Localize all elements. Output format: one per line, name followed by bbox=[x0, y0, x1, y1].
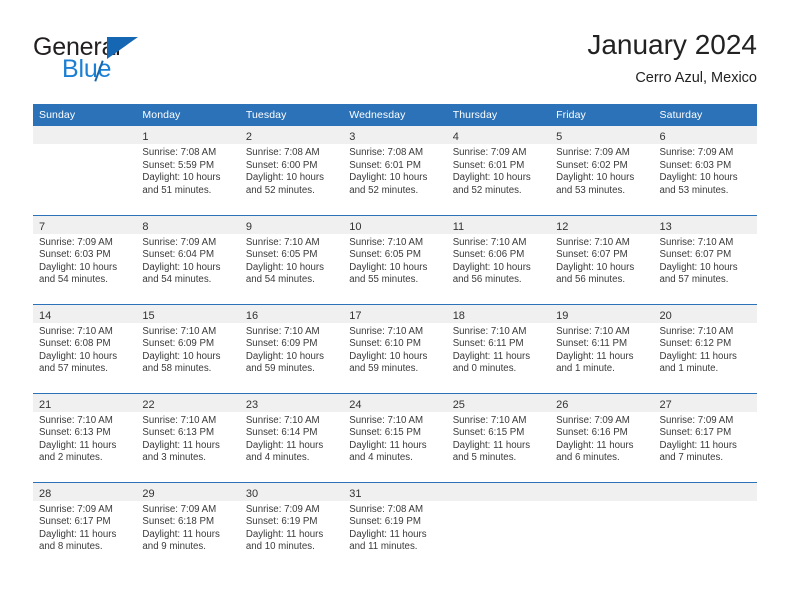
day-cell-details: Sunrise: 7:09 AMSunset: 6:02 PMDaylight:… bbox=[550, 144, 653, 197]
day-cell-details bbox=[33, 144, 136, 147]
daylight-text: Daylight: 11 hours bbox=[453, 440, 543, 453]
daylight-text-cont: and 57 minutes. bbox=[660, 274, 750, 287]
daylight-text-cont: and 54 minutes. bbox=[246, 274, 336, 287]
sunrise-text: Sunrise: 7:09 AM bbox=[660, 147, 750, 160]
sunrise-text: Sunrise: 7:09 AM bbox=[39, 504, 129, 517]
sunset-text: Sunset: 6:01 PM bbox=[349, 160, 439, 173]
daylight-text: Daylight: 10 hours bbox=[453, 262, 543, 275]
day-cell[interactable]: 13Sunrise: 7:10 AMSunset: 6:07 PMDayligh… bbox=[654, 215, 757, 304]
sunset-text: Sunset: 6:19 PM bbox=[349, 516, 439, 529]
daylight-text-cont: and 59 minutes. bbox=[349, 363, 439, 376]
sunrise-text: Sunrise: 7:09 AM bbox=[556, 415, 646, 428]
day-cell[interactable]: 6Sunrise: 7:09 AMSunset: 6:03 PMDaylight… bbox=[654, 126, 757, 215]
day-cell-details: Sunrise: 7:09 AMSunset: 6:01 PMDaylight:… bbox=[447, 144, 550, 197]
daylight-text-cont: and 3 minutes. bbox=[142, 452, 232, 465]
weekday-header-wednesday: Wednesday bbox=[343, 104, 446, 126]
weekday-header-friday: Friday bbox=[550, 104, 653, 126]
day-cell[interactable]: 30Sunrise: 7:09 AMSunset: 6:19 PMDayligh… bbox=[240, 482, 343, 571]
day-number-band: 2 bbox=[240, 126, 343, 144]
sunrise-text: Sunrise: 7:10 AM bbox=[39, 415, 129, 428]
sunset-text: Sunset: 6:11 PM bbox=[453, 338, 543, 351]
daylight-text-cont: and 9 minutes. bbox=[142, 541, 232, 554]
day-number: 16 bbox=[246, 310, 258, 322]
calendar-week-row: 7Sunrise: 7:09 AMSunset: 6:03 PMDaylight… bbox=[33, 215, 757, 304]
day-cell-empty bbox=[447, 482, 550, 571]
sunset-text: Sunset: 6:09 PM bbox=[142, 338, 232, 351]
daylight-text: Daylight: 10 hours bbox=[246, 351, 336, 364]
daylight-text: Daylight: 10 hours bbox=[39, 351, 129, 364]
day-number-band: 29 bbox=[136, 483, 239, 501]
weekday-header-sunday: Sunday bbox=[33, 104, 136, 126]
day-cell-details: Sunrise: 7:10 AMSunset: 6:05 PMDaylight:… bbox=[240, 234, 343, 287]
sunset-text: Sunset: 6:12 PM bbox=[660, 338, 750, 351]
day-number: 13 bbox=[660, 221, 672, 233]
day-cell-details: Sunrise: 7:08 AMSunset: 6:19 PMDaylight:… bbox=[343, 501, 446, 554]
day-cell-details: Sunrise: 7:10 AMSunset: 6:07 PMDaylight:… bbox=[550, 234, 653, 287]
day-cell-details: Sunrise: 7:10 AMSunset: 6:08 PMDaylight:… bbox=[33, 323, 136, 376]
day-cell-details: Sunrise: 7:10 AMSunset: 6:11 PMDaylight:… bbox=[447, 323, 550, 376]
day-cell[interactable]: 14Sunrise: 7:10 AMSunset: 6:08 PMDayligh… bbox=[33, 304, 136, 393]
daylight-text: Daylight: 11 hours bbox=[246, 440, 336, 453]
day-number: 7 bbox=[39, 221, 45, 233]
sunset-text: Sunset: 6:09 PM bbox=[246, 338, 336, 351]
day-number: 28 bbox=[39, 488, 51, 500]
day-cell-details: Sunrise: 7:10 AMSunset: 6:15 PMDaylight:… bbox=[447, 412, 550, 465]
day-number-band: 7 bbox=[33, 216, 136, 234]
day-number: 14 bbox=[39, 310, 51, 322]
calendar-body: 1Sunrise: 7:08 AMSunset: 5:59 PMDaylight… bbox=[33, 126, 757, 571]
day-cell-details: Sunrise: 7:10 AMSunset: 6:07 PMDaylight:… bbox=[654, 234, 757, 287]
sunset-text: Sunset: 6:10 PM bbox=[349, 338, 439, 351]
sunrise-text: Sunrise: 7:10 AM bbox=[556, 237, 646, 250]
sunset-text: Sunset: 6:04 PM bbox=[142, 249, 232, 262]
sunrise-text: Sunrise: 7:10 AM bbox=[660, 237, 750, 250]
sunrise-text: Sunrise: 7:10 AM bbox=[246, 415, 336, 428]
day-cell[interactable]: 24Sunrise: 7:10 AMSunset: 6:15 PMDayligh… bbox=[343, 393, 446, 482]
day-number: 25 bbox=[453, 399, 465, 411]
sunrise-text: Sunrise: 7:10 AM bbox=[349, 326, 439, 339]
daylight-text: Daylight: 10 hours bbox=[349, 172, 439, 185]
sunrise-text: Sunrise: 7:10 AM bbox=[39, 326, 129, 339]
day-number-band: 27 bbox=[654, 394, 757, 412]
day-number: 30 bbox=[246, 488, 258, 500]
day-number: 29 bbox=[142, 488, 154, 500]
day-number-band: 6 bbox=[654, 126, 757, 144]
sunset-text: Sunset: 6:18 PM bbox=[142, 516, 232, 529]
day-cell-empty bbox=[550, 482, 653, 571]
sunset-text: Sunset: 6:13 PM bbox=[39, 427, 129, 440]
day-number-band bbox=[654, 483, 757, 501]
day-cell[interactable]: 16Sunrise: 7:10 AMSunset: 6:09 PMDayligh… bbox=[240, 304, 343, 393]
day-number-band: 1 bbox=[136, 126, 239, 144]
daylight-text: Daylight: 11 hours bbox=[660, 440, 750, 453]
day-cell-details bbox=[654, 501, 757, 504]
daylight-text-cont: and 2 minutes. bbox=[39, 452, 129, 465]
weekday-header-thursday: Thursday bbox=[447, 104, 550, 126]
day-cell-details: Sunrise: 7:10 AMSunset: 6:15 PMDaylight:… bbox=[343, 412, 446, 465]
day-number-band: 26 bbox=[550, 394, 653, 412]
day-number-band: 9 bbox=[240, 216, 343, 234]
day-number-band: 23 bbox=[240, 394, 343, 412]
day-number-band bbox=[447, 483, 550, 501]
sunrise-text: Sunrise: 7:09 AM bbox=[142, 504, 232, 517]
sunset-text: Sunset: 6:15 PM bbox=[349, 427, 439, 440]
sunrise-text: Sunrise: 7:08 AM bbox=[349, 504, 439, 517]
day-number-band: 30 bbox=[240, 483, 343, 501]
sunset-text: Sunset: 6:06 PM bbox=[453, 249, 543, 262]
sunset-text: Sunset: 6:07 PM bbox=[556, 249, 646, 262]
daylight-text-cont: and 4 minutes. bbox=[349, 452, 439, 465]
sunrise-text: Sunrise: 7:10 AM bbox=[453, 237, 543, 250]
day-number: 8 bbox=[142, 221, 148, 233]
day-number: 15 bbox=[142, 310, 154, 322]
weekday-header-tuesday: Tuesday bbox=[240, 104, 343, 126]
daylight-text: Daylight: 10 hours bbox=[246, 172, 336, 185]
day-number-band: 22 bbox=[136, 394, 239, 412]
daylight-text: Daylight: 11 hours bbox=[556, 351, 646, 364]
daylight-text-cont: and 56 minutes. bbox=[453, 274, 543, 287]
sunrise-text: Sunrise: 7:10 AM bbox=[349, 415, 439, 428]
sunset-text: Sunset: 6:17 PM bbox=[660, 427, 750, 440]
day-number-band: 18 bbox=[447, 305, 550, 323]
day-number: 19 bbox=[556, 310, 568, 322]
day-number-band: 20 bbox=[654, 305, 757, 323]
day-cell-details: Sunrise: 7:09 AMSunset: 6:03 PMDaylight:… bbox=[654, 144, 757, 197]
day-cell[interactable]: 23Sunrise: 7:10 AMSunset: 6:14 PMDayligh… bbox=[240, 393, 343, 482]
day-number-band: 24 bbox=[343, 394, 446, 412]
sunrise-text: Sunrise: 7:08 AM bbox=[246, 147, 336, 160]
sunset-text: Sunset: 6:16 PM bbox=[556, 427, 646, 440]
day-cell[interactable]: 3Sunrise: 7:08 AMSunset: 6:01 PMDaylight… bbox=[343, 126, 446, 215]
sunrise-text: Sunrise: 7:09 AM bbox=[39, 237, 129, 250]
daylight-text-cont: and 7 minutes. bbox=[660, 452, 750, 465]
sunrise-text: Sunrise: 7:10 AM bbox=[349, 237, 439, 250]
day-number: 21 bbox=[39, 399, 51, 411]
daylight-text-cont: and 6 minutes. bbox=[556, 452, 646, 465]
daylight-text: Daylight: 11 hours bbox=[39, 440, 129, 453]
day-cell-details: Sunrise: 7:09 AMSunset: 6:03 PMDaylight:… bbox=[33, 234, 136, 287]
day-cell-details: Sunrise: 7:10 AMSunset: 6:09 PMDaylight:… bbox=[136, 323, 239, 376]
sunset-text: Sunset: 6:13 PM bbox=[142, 427, 232, 440]
day-cell[interactable]: 10Sunrise: 7:10 AMSunset: 6:05 PMDayligh… bbox=[343, 215, 446, 304]
day-cell-details bbox=[447, 501, 550, 504]
daylight-text: Daylight: 11 hours bbox=[660, 351, 750, 364]
daylight-text: Daylight: 11 hours bbox=[556, 440, 646, 453]
daylight-text-cont: and 11 minutes. bbox=[349, 541, 439, 554]
daylight-text: Daylight: 10 hours bbox=[349, 351, 439, 364]
calendar-week-row: 14Sunrise: 7:10 AMSunset: 6:08 PMDayligh… bbox=[33, 304, 757, 393]
sunset-text: Sunset: 6:11 PM bbox=[556, 338, 646, 351]
sunrise-text: Sunrise: 7:08 AM bbox=[349, 147, 439, 160]
day-cell-details: Sunrise: 7:09 AMSunset: 6:18 PMDaylight:… bbox=[136, 501, 239, 554]
daylight-text: Daylight: 10 hours bbox=[660, 172, 750, 185]
day-cell-details: Sunrise: 7:09 AMSunset: 6:17 PMDaylight:… bbox=[654, 412, 757, 465]
day-cell[interactable]: 28Sunrise: 7:09 AMSunset: 6:17 PMDayligh… bbox=[33, 482, 136, 571]
day-number-band: 13 bbox=[654, 216, 757, 234]
day-cell-details: Sunrise: 7:09 AMSunset: 6:19 PMDaylight:… bbox=[240, 501, 343, 554]
daylight-text: Daylight: 10 hours bbox=[142, 172, 232, 185]
logo-triangle-icon bbox=[107, 37, 138, 59]
daylight-text-cont: and 51 minutes. bbox=[142, 185, 232, 198]
day-number: 3 bbox=[349, 131, 355, 143]
sunset-text: Sunset: 6:15 PM bbox=[453, 427, 543, 440]
daylight-text-cont: and 52 minutes. bbox=[453, 185, 543, 198]
day-number: 10 bbox=[349, 221, 361, 233]
page-header: General Blue January 2024 Cerro Azul, Me… bbox=[33, 28, 757, 94]
day-number-band: 15 bbox=[136, 305, 239, 323]
day-cell-empty bbox=[33, 126, 136, 215]
day-number-band: 3 bbox=[343, 126, 446, 144]
daylight-text-cont: and 1 minute. bbox=[556, 363, 646, 376]
sunrise-text: Sunrise: 7:09 AM bbox=[453, 147, 543, 160]
sunrise-text: Sunrise: 7:10 AM bbox=[453, 415, 543, 428]
day-number-band: 5 bbox=[550, 126, 653, 144]
daylight-text-cont: and 0 minutes. bbox=[453, 363, 543, 376]
day-cell-details: Sunrise: 7:10 AMSunset: 6:10 PMDaylight:… bbox=[343, 323, 446, 376]
day-cell[interactable]: 22Sunrise: 7:10 AMSunset: 6:13 PMDayligh… bbox=[136, 393, 239, 482]
sunrise-text: Sunrise: 7:09 AM bbox=[556, 147, 646, 160]
page-title: January 2024 bbox=[587, 28, 757, 62]
sunrise-text: Sunrise: 7:10 AM bbox=[556, 326, 646, 339]
day-cell[interactable]: 1Sunrise: 7:08 AMSunset: 5:59 PMDaylight… bbox=[136, 126, 239, 215]
day-number-band: 4 bbox=[447, 126, 550, 144]
daylight-text: Daylight: 10 hours bbox=[556, 262, 646, 275]
sunset-text: Sunset: 6:07 PM bbox=[660, 249, 750, 262]
day-cell[interactable]: 7Sunrise: 7:09 AMSunset: 6:03 PMDaylight… bbox=[33, 215, 136, 304]
sunset-text: Sunset: 6:17 PM bbox=[39, 516, 129, 529]
day-cell-details: Sunrise: 7:10 AMSunset: 6:05 PMDaylight:… bbox=[343, 234, 446, 287]
day-number-band: 17 bbox=[343, 305, 446, 323]
day-number-band: 10 bbox=[343, 216, 446, 234]
day-cell[interactable]: 27Sunrise: 7:09 AMSunset: 6:17 PMDayligh… bbox=[654, 393, 757, 482]
daylight-text-cont: and 52 minutes. bbox=[349, 185, 439, 198]
logo-wordmark-top: General bbox=[33, 34, 121, 60]
day-number: 20 bbox=[660, 310, 672, 322]
calendar-week-row: 28Sunrise: 7:09 AMSunset: 6:17 PMDayligh… bbox=[33, 482, 757, 571]
day-number: 17 bbox=[349, 310, 361, 322]
weekday-header-saturday: Saturday bbox=[654, 104, 757, 126]
sunrise-text: Sunrise: 7:10 AM bbox=[246, 326, 336, 339]
daylight-text-cont: and 56 minutes. bbox=[556, 274, 646, 287]
sunrise-text: Sunrise: 7:10 AM bbox=[660, 326, 750, 339]
day-cell[interactable]: 11Sunrise: 7:10 AMSunset: 6:06 PMDayligh… bbox=[447, 215, 550, 304]
sunset-text: Sunset: 6:19 PM bbox=[246, 516, 336, 529]
day-cell-details: Sunrise: 7:08 AMSunset: 5:59 PMDaylight:… bbox=[136, 144, 239, 197]
daylight-text: Daylight: 10 hours bbox=[142, 351, 232, 364]
daylight-text-cont: and 59 minutes. bbox=[246, 363, 336, 376]
daylight-text-cont: and 55 minutes. bbox=[349, 274, 439, 287]
sunrise-text: Sunrise: 7:09 AM bbox=[142, 237, 232, 250]
day-cell[interactable]: 18Sunrise: 7:10 AMSunset: 6:11 PMDayligh… bbox=[447, 304, 550, 393]
weekday-header-monday: Monday bbox=[136, 104, 239, 126]
daylight-text-cont: and 4 minutes. bbox=[246, 452, 336, 465]
sunset-text: Sunset: 6:03 PM bbox=[39, 249, 129, 262]
day-cell[interactable]: 21Sunrise: 7:10 AMSunset: 6:13 PMDayligh… bbox=[33, 393, 136, 482]
daylight-text-cont: and 53 minutes. bbox=[660, 185, 750, 198]
day-cell-details: Sunrise: 7:10 AMSunset: 6:12 PMDaylight:… bbox=[654, 323, 757, 376]
day-number-band: 31 bbox=[343, 483, 446, 501]
daylight-text: Daylight: 11 hours bbox=[39, 529, 129, 542]
day-cell[interactable]: 5Sunrise: 7:09 AMSunset: 6:02 PMDaylight… bbox=[550, 126, 653, 215]
day-number: 6 bbox=[660, 131, 666, 143]
day-number-band: 11 bbox=[447, 216, 550, 234]
day-number: 31 bbox=[349, 488, 361, 500]
sunset-text: Sunset: 6:14 PM bbox=[246, 427, 336, 440]
daylight-text: Daylight: 10 hours bbox=[349, 262, 439, 275]
calendar-page: General Blue January 2024 Cerro Azul, Me… bbox=[0, 0, 792, 612]
daylight-text: Daylight: 11 hours bbox=[246, 529, 336, 542]
day-cell[interactable]: 8Sunrise: 7:09 AMSunset: 6:04 PMDaylight… bbox=[136, 215, 239, 304]
day-number: 11 bbox=[453, 221, 464, 233]
day-cell-details: Sunrise: 7:08 AMSunset: 6:01 PMDaylight:… bbox=[343, 144, 446, 197]
day-number: 22 bbox=[142, 399, 154, 411]
sunrise-text: Sunrise: 7:08 AM bbox=[142, 147, 232, 160]
day-number-band: 12 bbox=[550, 216, 653, 234]
day-number: 27 bbox=[660, 399, 672, 411]
sunset-text: Sunset: 6:08 PM bbox=[39, 338, 129, 351]
day-number: 1 bbox=[142, 131, 148, 143]
daylight-text-cont: and 5 minutes. bbox=[453, 452, 543, 465]
sunset-text: Sunset: 6:03 PM bbox=[660, 160, 750, 173]
day-cell-details: Sunrise: 7:10 AMSunset: 6:06 PMDaylight:… bbox=[447, 234, 550, 287]
daylight-text: Daylight: 11 hours bbox=[349, 529, 439, 542]
daylight-text: Daylight: 11 hours bbox=[142, 529, 232, 542]
calendar-week-row: 1Sunrise: 7:08 AMSunset: 5:59 PMDaylight… bbox=[33, 126, 757, 215]
day-number-band: 8 bbox=[136, 216, 239, 234]
daylight-text: Daylight: 11 hours bbox=[453, 351, 543, 364]
sunset-text: Sunset: 6:01 PM bbox=[453, 160, 543, 173]
sunset-text: Sunset: 5:59 PM bbox=[142, 160, 232, 173]
day-cell[interactable]: 25Sunrise: 7:10 AMSunset: 6:15 PMDayligh… bbox=[447, 393, 550, 482]
sunrise-text: Sunrise: 7:09 AM bbox=[246, 504, 336, 517]
day-number: 12 bbox=[556, 221, 568, 233]
daylight-text-cont: and 58 minutes. bbox=[142, 363, 232, 376]
day-cell-empty bbox=[654, 482, 757, 571]
sunset-text: Sunset: 6:00 PM bbox=[246, 160, 336, 173]
daylight-text: Daylight: 10 hours bbox=[556, 172, 646, 185]
daylight-text-cont: and 54 minutes. bbox=[142, 274, 232, 287]
daylight-text-cont: and 57 minutes. bbox=[39, 363, 129, 376]
day-number: 4 bbox=[453, 131, 459, 143]
daylight-text: Daylight: 10 hours bbox=[246, 262, 336, 275]
general-blue-logo[interactable]: General Blue bbox=[33, 34, 213, 90]
day-cell[interactable]: 20Sunrise: 7:10 AMSunset: 6:12 PMDayligh… bbox=[654, 304, 757, 393]
day-cell[interactable]: 2Sunrise: 7:08 AMSunset: 6:00 PMDaylight… bbox=[240, 126, 343, 215]
daylight-text: Daylight: 10 hours bbox=[142, 262, 232, 275]
day-number: 26 bbox=[556, 399, 568, 411]
day-number: 18 bbox=[453, 310, 465, 322]
day-number-band bbox=[550, 483, 653, 501]
day-number: 2 bbox=[246, 131, 252, 143]
sunset-text: Sunset: 6:02 PM bbox=[556, 160, 646, 173]
day-cell[interactable]: 31Sunrise: 7:08 AMSunset: 6:19 PMDayligh… bbox=[343, 482, 446, 571]
page-subtitle-location: Cerro Azul, Mexico bbox=[587, 68, 757, 88]
day-cell-details: Sunrise: 7:10 AMSunset: 6:13 PMDaylight:… bbox=[33, 412, 136, 465]
day-number-band: 28 bbox=[33, 483, 136, 501]
daylight-text-cont: and 1 minute. bbox=[660, 363, 750, 376]
day-number: 5 bbox=[556, 131, 562, 143]
day-number-band: 14 bbox=[33, 305, 136, 323]
day-cell-details: Sunrise: 7:10 AMSunset: 6:09 PMDaylight:… bbox=[240, 323, 343, 376]
daylight-text: Daylight: 10 hours bbox=[453, 172, 543, 185]
title-block: January 2024 Cerro Azul, Mexico bbox=[587, 28, 757, 88]
sunset-text: Sunset: 6:05 PM bbox=[349, 249, 439, 262]
day-number: 23 bbox=[246, 399, 258, 411]
day-cell[interactable]: 26Sunrise: 7:09 AMSunset: 6:16 PMDayligh… bbox=[550, 393, 653, 482]
day-cell[interactable]: 12Sunrise: 7:10 AMSunset: 6:07 PMDayligh… bbox=[550, 215, 653, 304]
calendar-week-row: 21Sunrise: 7:10 AMSunset: 6:13 PMDayligh… bbox=[33, 393, 757, 482]
daylight-text: Daylight: 10 hours bbox=[660, 262, 750, 275]
day-number: 9 bbox=[246, 221, 252, 233]
day-number-band: 19 bbox=[550, 305, 653, 323]
day-cell-details: Sunrise: 7:08 AMSunset: 6:00 PMDaylight:… bbox=[240, 144, 343, 197]
daylight-text: Daylight: 11 hours bbox=[142, 440, 232, 453]
calendar-header-row: SundayMondayTuesdayWednesdayThursdayFrid… bbox=[33, 104, 757, 126]
daylight-text-cont: and 54 minutes. bbox=[39, 274, 129, 287]
day-cell-details: Sunrise: 7:10 AMSunset: 6:14 PMDaylight:… bbox=[240, 412, 343, 465]
day-cell[interactable]: 17Sunrise: 7:10 AMSunset: 6:10 PMDayligh… bbox=[343, 304, 446, 393]
sunrise-text: Sunrise: 7:10 AM bbox=[453, 326, 543, 339]
day-cell-details: Sunrise: 7:10 AMSunset: 6:11 PMDaylight:… bbox=[550, 323, 653, 376]
day-number-band: 25 bbox=[447, 394, 550, 412]
day-number-band: 21 bbox=[33, 394, 136, 412]
daylight-text-cont: and 52 minutes. bbox=[246, 185, 336, 198]
day-cell-details: Sunrise: 7:09 AMSunset: 6:17 PMDaylight:… bbox=[33, 501, 136, 554]
daylight-text: Daylight: 11 hours bbox=[349, 440, 439, 453]
calendar-table: SundayMondayTuesdayWednesdayThursdayFrid… bbox=[33, 104, 757, 571]
daylight-text-cont: and 8 minutes. bbox=[39, 541, 129, 554]
day-cell[interactable]: 15Sunrise: 7:10 AMSunset: 6:09 PMDayligh… bbox=[136, 304, 239, 393]
daylight-text-cont: and 10 minutes. bbox=[246, 541, 336, 554]
day-cell[interactable]: 19Sunrise: 7:10 AMSunset: 6:11 PMDayligh… bbox=[550, 304, 653, 393]
daylight-text: Daylight: 10 hours bbox=[39, 262, 129, 275]
day-cell-details bbox=[550, 501, 653, 504]
day-cell-details: Sunrise: 7:09 AMSunset: 6:04 PMDaylight:… bbox=[136, 234, 239, 287]
sunrise-text: Sunrise: 7:10 AM bbox=[142, 415, 232, 428]
day-cell-details: Sunrise: 7:09 AMSunset: 6:16 PMDaylight:… bbox=[550, 412, 653, 465]
day-number: 24 bbox=[349, 399, 361, 411]
day-cell[interactable]: 29Sunrise: 7:09 AMSunset: 6:18 PMDayligh… bbox=[136, 482, 239, 571]
sunrise-text: Sunrise: 7:10 AM bbox=[142, 326, 232, 339]
daylight-text-cont: and 53 minutes. bbox=[556, 185, 646, 198]
sunrise-text: Sunrise: 7:10 AM bbox=[246, 237, 336, 250]
day-cell-details: Sunrise: 7:10 AMSunset: 6:13 PMDaylight:… bbox=[136, 412, 239, 465]
day-cell[interactable]: 9Sunrise: 7:10 AMSunset: 6:05 PMDaylight… bbox=[240, 215, 343, 304]
sunrise-text: Sunrise: 7:09 AM bbox=[660, 415, 750, 428]
day-cell[interactable]: 4Sunrise: 7:09 AMSunset: 6:01 PMDaylight… bbox=[447, 126, 550, 215]
day-number-band: 16 bbox=[240, 305, 343, 323]
sunset-text: Sunset: 6:05 PM bbox=[246, 249, 336, 262]
day-number-band bbox=[33, 126, 136, 144]
